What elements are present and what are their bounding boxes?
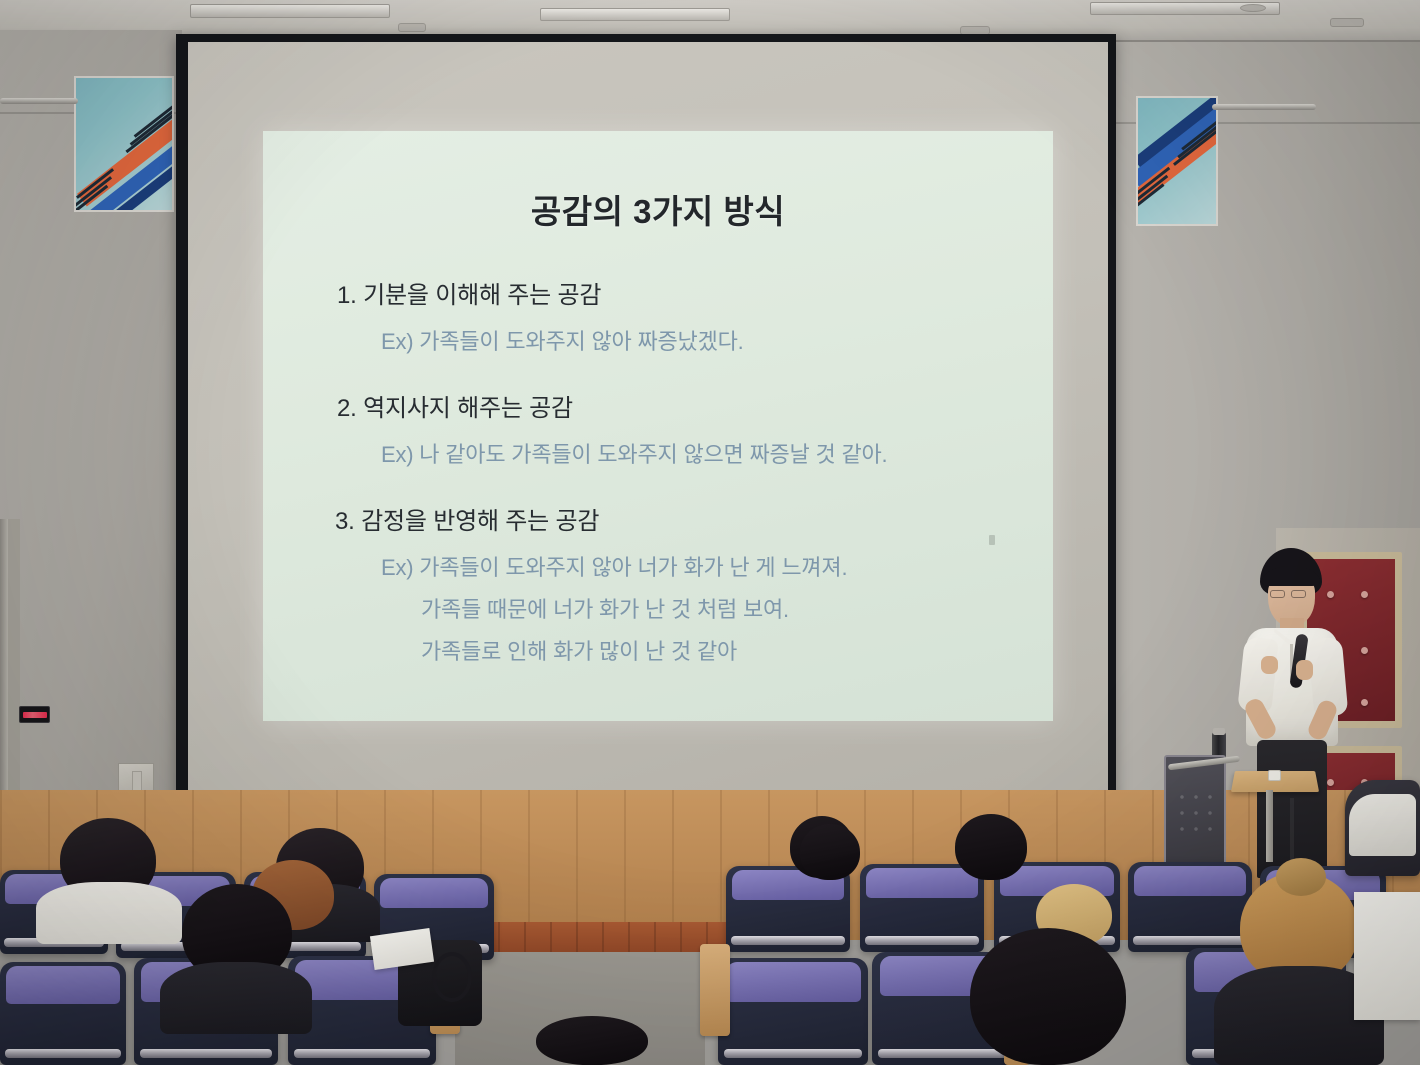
slide-title: 공감의 3가지 방식 [303, 185, 1013, 233]
slide-item-3-example-3: 가족들로 인해 화가 많이 난 것 같아 [303, 634, 1013, 666]
ceiling-vent [398, 23, 426, 32]
seat[interactable] [0, 962, 126, 1065]
banner-rod-left [0, 98, 78, 104]
ceiling-vent [1330, 18, 1364, 27]
audience-shoulders [36, 882, 182, 944]
presentation-slide: 공감의 3가지 방식 1. 기분을 이해해 주는 공감 Ex) 가족들이 도와주… [263, 131, 1053, 721]
seat-chrome-trim [865, 936, 979, 945]
wall-banner-right [1136, 96, 1218, 226]
led-display-panel [19, 706, 50, 723]
audience-bag-strap [432, 952, 472, 1002]
audience-head [800, 824, 860, 880]
audience-shoulders [160, 962, 312, 1034]
slide-item-3-example-2: 가족들 때문에 너가 화가 난 것 처럼 보여. [303, 592, 1013, 624]
seat[interactable] [1345, 780, 1420, 876]
seat-chrome-trim [140, 1049, 272, 1058]
slide-item-2-heading: 2. 역지사지 해주는 공감 [303, 388, 1013, 423]
seat[interactable] [718, 958, 868, 1065]
slide-item-3: 3. 감정을 반영해 주는 공감 Ex) 가족들이 도와주지 않아 너가 화가 … [303, 501, 1013, 666]
slide-item-3-example-1: Ex) 가족들이 도와주지 않아 너가 화가 난 게 느껴져. [303, 550, 1013, 582]
seat-pad [726, 962, 861, 1002]
slide-item-3-heading: 3. 감정을 반영해 주는 공감 [303, 501, 1013, 536]
audience-hair-bun [1276, 858, 1326, 896]
slide-spacer [303, 366, 1013, 388]
seat-pad [380, 878, 488, 908]
presenter [1233, 548, 1353, 878]
slide-item-1: 1. 기분을 이해해 주는 공감 Ex) 가족들이 도와주지 않아 짜증났겠다. [303, 275, 1013, 356]
seat-pad [1134, 866, 1246, 896]
seat[interactable] [1128, 862, 1252, 952]
seat-pad [6, 966, 119, 1004]
ceiling-light-fixture [540, 8, 730, 21]
thermos-cap [1213, 728, 1225, 735]
door-tuft [1361, 647, 1368, 654]
side-table-leg [1266, 790, 1273, 862]
slide-item-1-heading: 1. 기분을 이해해 주는 공감 [303, 275, 1013, 310]
slide-blemish-mark [989, 535, 995, 545]
slide-item-2: 2. 역지사지 해주는 공감 Ex) 나 같아도 가족들이 도와주지 않으면 짜… [303, 388, 1013, 469]
audience-head [955, 814, 1027, 880]
seat-chrome-trim [5, 1049, 121, 1058]
seat-chrome-trim [294, 1049, 430, 1058]
seat-chrome-trim [731, 936, 845, 945]
left-door-frame-inner [8, 519, 20, 819]
presenter-glasses-right [1291, 590, 1306, 598]
seat-chrome-trim [724, 1049, 862, 1058]
slide-item-2-example-1: Ex) 나 같아도 가족들이 도와주지 않으면 짜증날 것 같아. [303, 437, 1013, 469]
wall-banner-left [74, 76, 174, 212]
slide-item-1-example-1: Ex) 가족들이 도와주지 않아 짜증났겠다. [303, 324, 1013, 356]
seat-chrome-trim [1133, 936, 1247, 945]
seat-pad [866, 868, 978, 898]
seat-armrest [700, 944, 730, 1036]
door-tuft [1361, 591, 1368, 598]
audience-head [536, 1016, 648, 1065]
ceiling-light-fixture [190, 4, 390, 18]
ceiling-vent [1240, 4, 1266, 12]
slide-spacer [303, 479, 1013, 501]
door-tuft [1361, 699, 1368, 706]
presenter-glasses-left [1270, 590, 1285, 598]
presenter-hand-left [1261, 656, 1278, 674]
presenter-hand-right [1296, 660, 1313, 680]
seat-pad [1349, 794, 1417, 856]
lecture-hall-scene: 공감의 3가지 방식 1. 기분을 이해해 주는 공감 Ex) 가족들이 도와주… [0, 0, 1420, 1065]
audience-head [970, 928, 1126, 1065]
audience-document [1354, 892, 1420, 1020]
podium-board [1164, 755, 1226, 873]
table-small-object [1268, 770, 1281, 781]
banner-rod-right [1212, 104, 1316, 110]
seat[interactable] [860, 864, 984, 952]
